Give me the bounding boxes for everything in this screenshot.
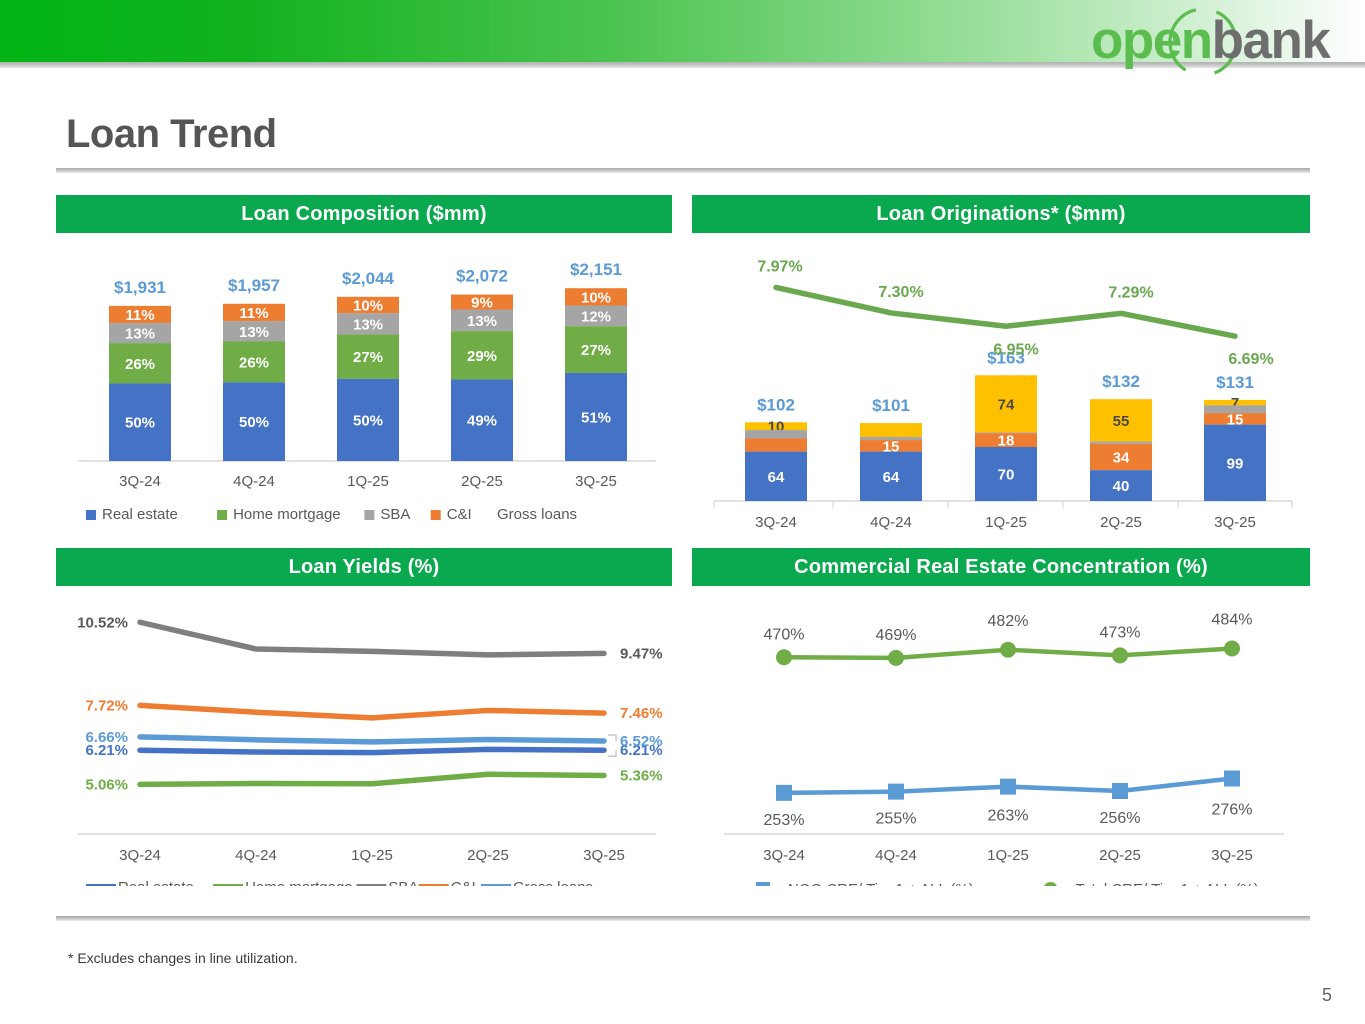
bar-total-label: $2,044: [342, 269, 395, 288]
legend-item: Gross loans: [497, 506, 577, 523]
chart-loan-composition: $1,93111%13%26%50%3Q-24$1,95711%13%26%50…: [56, 233, 672, 533]
x-axis-tick-label: 4Q-24: [233, 473, 275, 490]
panel-title-loan-originations: Loan Originations* ($mm): [692, 195, 1310, 233]
bar-segment: [860, 423, 922, 437]
legend-item: Real estate: [86, 506, 178, 523]
legend-label: C&I: [451, 879, 476, 886]
bar-segment-label: 11%: [239, 305, 268, 322]
x-axis-tick-label: 3Q-25: [575, 473, 617, 490]
yield-end-label: 5.36%: [620, 767, 663, 784]
cre-data-label: 253%: [764, 812, 805, 829]
bar-segment-label: 64: [883, 469, 900, 486]
yield-line: [140, 749, 604, 752]
cre-data-point: [1224, 641, 1240, 657]
bar-group: $132553440: [1090, 372, 1152, 501]
bar-segment-label: 70: [998, 467, 1015, 484]
legend-label: Total CRE/ Tier 1 + ALL (%): [1076, 881, 1259, 886]
yield-line: [140, 622, 604, 655]
loan-originations-svg: $10210643Q-24$10115644Q-24$1637418701Q-2…: [692, 233, 1310, 533]
cre-concentration-svg: 253%255%263%256%276%470%469%482%473%484%…: [692, 586, 1310, 886]
cre-data-label: 256%: [1100, 810, 1141, 827]
yield-start-label: 10.52%: [77, 614, 128, 631]
cre-data-point: [1000, 779, 1016, 795]
yield-end-label: 7.46%: [620, 705, 663, 722]
footnote: * Excludes changes in line utilization.: [68, 950, 298, 966]
legend-label: Home mortgage: [233, 506, 341, 523]
cre-data-label: 482%: [988, 613, 1029, 630]
leader-line: [608, 735, 616, 741]
bar-group: $2,04410%13%27%50%: [337, 269, 399, 461]
bar-segment-label: 50%: [239, 414, 269, 431]
spot-rate-line: [776, 287, 1235, 336]
spot-rate-label: 7.30%: [878, 284, 923, 301]
legend-item: Gross loans: [481, 879, 593, 886]
bar-segment-label: 27%: [581, 342, 611, 359]
bar-segment-label: 50%: [125, 415, 155, 432]
panel-cre-concentration: Commercial Real Estate Concentration (%)…: [692, 548, 1310, 888]
legend-label: Real estate: [118, 879, 194, 886]
chart-cre-concentration: 253%255%263%256%276%470%469%482%473%484%…: [692, 586, 1310, 886]
bar-segment-label: 34: [1113, 450, 1130, 467]
bar-segment-label: 51%: [581, 409, 611, 426]
panel-loan-originations: Loan Originations* ($mm) $10210643Q-24$1…: [692, 195, 1310, 535]
bar-group: $1,93111%13%26%50%: [109, 278, 171, 461]
bar-segment-label: 10%: [581, 289, 611, 306]
bar-group: $2,0729%13%29%49%: [451, 267, 513, 461]
x-axis-tick-label: 4Q-24: [875, 847, 917, 864]
bar-segment-label: 11%: [125, 307, 154, 324]
spot-rate-label: 7.97%: [757, 258, 802, 275]
bar-segment-label: 13%: [353, 316, 383, 333]
bar-segment-label: 29%: [467, 348, 497, 365]
bar-total-label: $101: [872, 396, 910, 415]
cre-data-label: 473%: [1100, 624, 1141, 641]
bar-segment-label: 64: [768, 469, 785, 486]
x-axis-tick-label: 1Q-25: [351, 847, 393, 864]
legend-label: NOO CRE/ Tier 1 + ALL (%): [788, 881, 974, 886]
title-divider: [56, 168, 1310, 173]
legend-label: SBA: [388, 879, 418, 886]
legend-item: Total CRE/ Tier 1 + ALL (%): [1030, 881, 1259, 886]
cre-data-point: [776, 785, 792, 801]
yield-line: [140, 737, 604, 742]
openbank-logo: openbank: [1091, 4, 1351, 80]
footer-divider: [56, 916, 1310, 921]
bar-segment: [745, 430, 807, 438]
bar-segment-label: 40: [1113, 478, 1130, 495]
loan-yields-svg: 6.21%6.21%5.06%5.36%10.52%9.47%7.72%7.46…: [56, 586, 672, 886]
cre-data-label: 263%: [988, 808, 1029, 825]
legend-item: Home mortgage: [217, 506, 341, 523]
legend-item: Real estate: [86, 879, 194, 886]
logo-wordmark: openbank: [1091, 12, 1351, 70]
cre-data-point: [1000, 642, 1016, 658]
bar-segment: [745, 439, 807, 452]
legend-item: SBA: [364, 506, 410, 523]
bar-total-label: $132: [1102, 372, 1140, 391]
bar-segment-label: 27%: [353, 349, 383, 366]
legend-item: NOO CRE/ Tier 1 + ALL (%): [742, 881, 974, 886]
bar-segment-label: 13%: [467, 313, 497, 330]
yield-end-label: 6.52%: [620, 733, 663, 750]
cre-data-point: [1112, 783, 1128, 799]
cre-data-label: 484%: [1212, 612, 1253, 629]
bar-group: $1011564: [860, 396, 922, 501]
x-axis-tick-label: 4Q-24: [870, 514, 912, 531]
legend-item: Home mortgage: [213, 879, 353, 886]
x-axis-tick-label: 2Q-25: [467, 847, 509, 864]
bar-segment-label: 9%: [471, 295, 493, 312]
legend-label: Real estate: [102, 506, 178, 523]
legend-label: Gross loans: [497, 506, 577, 523]
panel-loan-yields: Loan Yields (%) 6.21%6.21%5.06%5.36%10.5…: [56, 548, 672, 888]
x-axis-tick-label: 4Q-24: [235, 847, 277, 864]
cre-data-label: 469%: [876, 627, 917, 644]
chart-loan-yields: 6.21%6.21%5.06%5.36%10.52%9.47%7.72%7.46…: [56, 586, 672, 886]
bar-segment-label: 13%: [239, 324, 269, 341]
x-axis-tick-label: 2Q-25: [1099, 847, 1141, 864]
bar-group: $163741870: [975, 348, 1037, 501]
legend-swatch: [217, 510, 227, 520]
x-axis-tick-label: 3Q-24: [755, 514, 797, 531]
panel-loan-composition: Loan Composition ($mm) $1,93111%13%26%50…: [56, 195, 672, 535]
legend-item: C&I: [419, 879, 476, 886]
spot-rate-label: 6.69%: [1228, 351, 1273, 368]
yield-start-label: 7.72%: [85, 697, 128, 714]
bar-segment-label: 99: [1227, 455, 1244, 472]
leader-line: [608, 750, 616, 756]
bar-group: $2,15110%12%27%51%: [565, 260, 627, 461]
x-axis-tick-label: 3Q-25: [583, 847, 625, 864]
legend-swatch: [431, 510, 441, 520]
panel-title-loan-composition: Loan Composition ($mm): [56, 195, 672, 233]
bar-segment-label: 26%: [125, 356, 155, 373]
logo-bank-text: bank: [1212, 11, 1330, 70]
spot-rate-label: 6.95%: [993, 341, 1038, 358]
legend-label: Home mortgage: [245, 879, 353, 886]
yield-start-label: 5.06%: [85, 776, 128, 793]
bar-total-label: $102: [757, 395, 795, 414]
bar-group: $13171599: [1204, 373, 1266, 501]
legend-marker-circle-icon: [1044, 882, 1058, 886]
bar-total-label: $1,931: [114, 278, 166, 297]
x-axis-tick-label: 3Q-25: [1211, 847, 1253, 864]
x-axis-tick-label: 1Q-25: [347, 473, 389, 490]
legend-item: SBA: [356, 879, 418, 886]
yield-line: [140, 774, 604, 784]
cre-data-point: [888, 650, 904, 666]
bar-segment-label: 49%: [467, 413, 497, 430]
bar-segment-label: 55: [1113, 413, 1130, 430]
bar-segment-label: 12%: [581, 308, 611, 325]
legend-label: C&I: [447, 506, 472, 523]
panel-title-cre-concentration: Commercial Real Estate Concentration (%): [692, 548, 1310, 586]
x-axis-tick-label: 3Q-24: [763, 847, 805, 864]
bar-segment-label: 26%: [239, 354, 269, 371]
cre-data-point: [888, 784, 904, 800]
bar-segment-label: 10%: [353, 298, 383, 315]
cre-data-label: 255%: [876, 811, 917, 828]
x-axis-tick-label: 2Q-25: [1100, 514, 1142, 531]
x-axis-tick-label: 3Q-25: [1214, 514, 1256, 531]
bar-total-label: $1,957: [228, 276, 280, 295]
bar-segment: [1090, 442, 1152, 444]
panel-title-loan-yields: Loan Yields (%): [56, 548, 672, 586]
bar-group: $1021064: [745, 395, 807, 501]
legend-item: C&I: [431, 506, 472, 523]
legend-swatch: [86, 510, 96, 520]
cre-data-label: 470%: [764, 626, 805, 643]
x-axis-tick-label: 3Q-24: [119, 847, 161, 864]
legend-swatch: [364, 510, 374, 520]
x-axis-tick-label: 1Q-25: [987, 847, 1029, 864]
page-number: 5: [1322, 985, 1332, 1006]
legend-marker-square-icon: [756, 882, 770, 886]
bar-segment-label: 50%: [353, 412, 383, 429]
x-axis-tick-label: 3Q-24: [119, 473, 161, 490]
yield-line: [140, 705, 604, 717]
legend-label: Gross loans: [513, 879, 593, 886]
bar-segment-label: 13%: [125, 326, 155, 343]
loan-composition-svg: $1,93111%13%26%50%3Q-24$1,95711%13%26%50…: [56, 233, 672, 533]
chart-loan-originations: $10210643Q-24$10115644Q-24$1637418701Q-2…: [692, 233, 1310, 533]
bar-total-label: $2,072: [456, 267, 508, 286]
bar-group: $1,95711%13%26%50%: [223, 276, 285, 461]
yield-end-label: 9.47%: [620, 645, 663, 662]
bar-total-label: $131: [1216, 373, 1254, 392]
bar-segment-label: 74: [998, 396, 1015, 413]
x-axis-tick-label: 1Q-25: [985, 514, 1027, 531]
cre-data-point: [1112, 647, 1128, 663]
yield-start-label: 6.66%: [85, 729, 128, 746]
page-title: Loan Trend: [66, 112, 277, 157]
cre-data-point: [776, 649, 792, 665]
spot-rate-label: 7.29%: [1108, 284, 1153, 301]
legend-label: SBA: [380, 506, 410, 523]
bar-total-label: $2,151: [570, 260, 622, 279]
cre-data-point: [1224, 771, 1240, 787]
logo-open-text: open: [1091, 11, 1212, 70]
x-axis-tick-label: 2Q-25: [461, 473, 503, 490]
cre-data-label: 276%: [1212, 802, 1253, 819]
